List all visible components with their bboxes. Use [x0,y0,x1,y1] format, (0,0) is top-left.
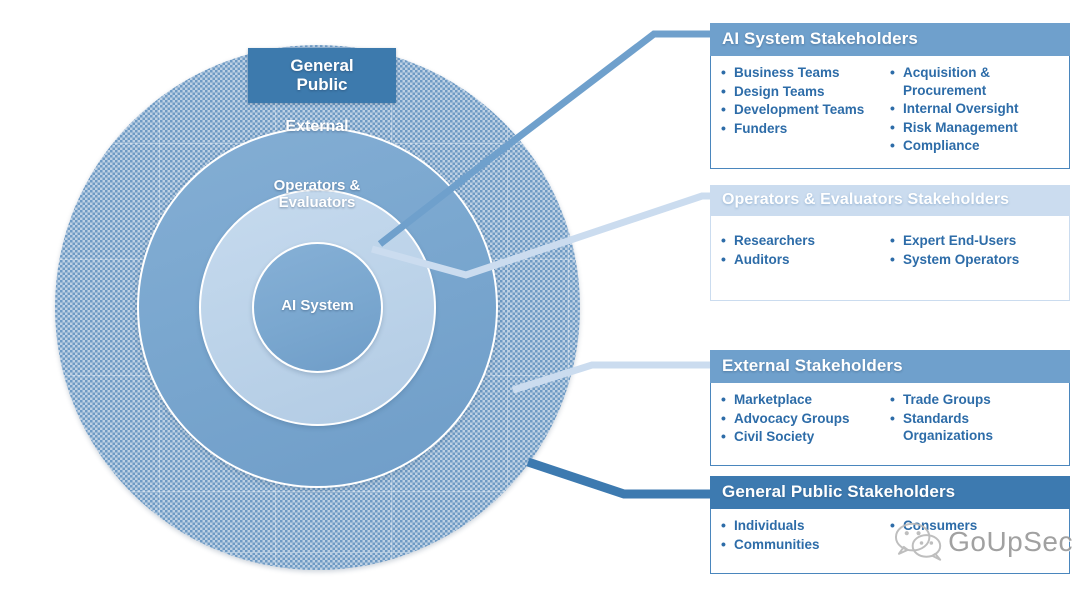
bullet-item: •Risk Management [890,119,1059,137]
card-operators-evaluators-stakeholders[interactable]: Operators & Evaluators Stakeholders •Res… [710,185,1070,301]
card-heading: General Public Stakeholders [710,476,1070,509]
bullet-column-left: •Individuals•Communities [721,517,890,563]
card-body: •Researchers•Auditors •Expert End-Users•… [710,216,1070,301]
bullet-dot-icon: • [890,100,903,118]
bullet-column-left: •Business Teams•Design Teams•Development… [721,64,890,158]
bullet-dot-icon: • [890,119,903,137]
bullet-item: •Business Teams [721,64,890,82]
bullet-dot-icon: • [721,101,734,119]
bullet-dot-icon: • [890,410,903,428]
bullet-column-right: •Expert End-Users•System Operators [890,232,1059,269]
bullet-dot-icon: • [721,83,734,101]
card-external-stakeholders[interactable]: External Stakeholders •Marketplace•Advoc… [710,350,1070,466]
bullet-item: •Consumers [890,517,1059,535]
bullet-label: Auditors [734,251,890,269]
bullet-dot-icon: • [721,232,734,250]
bullet-dot-icon: • [890,391,903,409]
bullet-dot-icon: • [890,137,903,155]
bullet-column-right: •Trade Groups•Standards Organizations [890,391,1059,455]
bullet-column-left: •Marketplace•Advocacy Groups•Civil Socie… [721,391,890,455]
bullet-item: •Individuals [721,517,890,535]
card-ai-system-stakeholders[interactable]: AI System Stakeholders •Business Teams•D… [710,23,1070,169]
bullet-dot-icon: • [721,410,734,428]
card-body: •Business Teams•Design Teams•Development… [710,56,1070,169]
bullet-item: •Trade Groups [890,391,1059,409]
bullet-dot-icon: • [721,428,734,446]
bullet-label: Advocacy Groups [734,410,890,428]
bullet-column-left: •Researchers•Auditors [721,232,890,269]
bullet-item: •Civil Society [721,428,890,446]
bullet-item: •Communities [721,536,890,554]
bullet-label: Trade Groups [903,391,1059,409]
bullet-item: •Development Teams [721,101,890,119]
card-body: •Marketplace•Advocacy Groups•Civil Socie… [710,383,1070,466]
bullet-label: Consumers [903,517,1059,535]
bullet-label: Acquisition & Procurement [903,64,1059,99]
bullet-label: Communities [734,536,890,554]
card-heading: Operators & Evaluators Stakeholders [710,185,1070,216]
bullet-label: Standards Organizations [903,410,1059,445]
bullet-item: •Internal Oversight [890,100,1059,118]
bullet-item: •System Operators [890,251,1059,269]
bullet-label: Marketplace [734,391,890,409]
ring-label-ai-system: AI System [252,298,383,315]
bullet-label: Internal Oversight [903,100,1059,118]
bullet-item: •Standards Organizations [890,410,1059,445]
bullet-item: •Marketplace [721,391,890,409]
bullet-item: •Auditors [721,251,890,269]
concentric-rings-diagram: General Public External Operators & Eval… [0,0,700,590]
bullet-dot-icon: • [890,64,903,82]
bullet-label: Funders [734,120,890,138]
bullet-item: •Expert End-Users [890,232,1059,250]
bullet-item: •Acquisition & Procurement [890,64,1059,99]
card-body: •Individuals•Communities •Consumers [710,509,1070,574]
ring-label-operators-evaluators: Operators & Evaluators [227,178,407,212]
bullet-dot-icon: • [890,232,903,250]
bullet-item: •Design Teams [721,83,890,101]
bullet-label: Compliance [903,137,1059,155]
bullet-column-right: •Acquisition & Procurement•Internal Over… [890,64,1059,158]
ring-label-general-public: General Public [248,48,396,103]
bullet-dot-icon: • [721,536,734,554]
bullet-item: •Researchers [721,232,890,250]
bullet-dot-icon: • [721,391,734,409]
bullet-label: Researchers [734,232,890,250]
bullet-dot-icon: • [890,251,903,269]
bullet-label: Risk Management [903,119,1059,137]
bullet-label: Individuals [734,517,890,535]
bullet-label: Design Teams [734,83,890,101]
bullet-column-right: •Consumers [890,517,1059,563]
bullet-item: •Compliance [890,137,1059,155]
bullet-label: Civil Society [734,428,890,446]
bullet-item: •Advocacy Groups [721,410,890,428]
card-heading: External Stakeholders [710,350,1070,383]
card-general-public-stakeholders[interactable]: General Public Stakeholders •Individuals… [710,476,1070,574]
card-heading: AI System Stakeholders [710,23,1070,56]
bullet-label: Development Teams [734,101,890,119]
bullet-dot-icon: • [721,517,734,535]
bullet-label: Expert End-Users [903,232,1059,250]
ring-label-external: External [237,118,397,136]
bullet-dot-icon: • [721,120,734,138]
bullet-dot-icon: • [721,64,734,82]
bullet-dot-icon: • [721,251,734,269]
bullet-dot-icon: • [890,517,903,535]
bullet-item: •Funders [721,120,890,138]
bullet-label: System Operators [903,251,1059,269]
bullet-label: Business Teams [734,64,890,82]
